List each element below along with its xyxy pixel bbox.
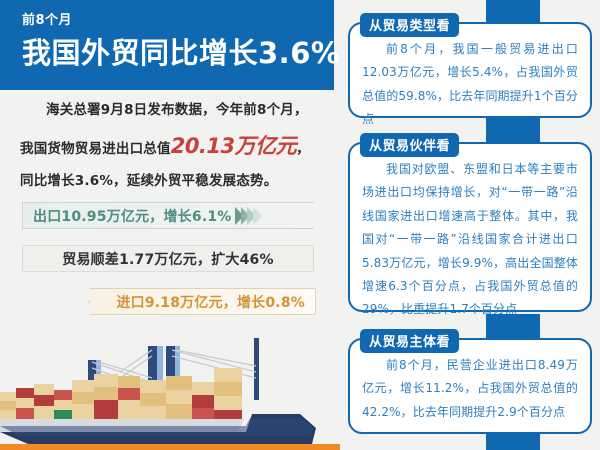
container-ship-illustration bbox=[0, 310, 340, 450]
right-column: 从贸易类型看 前8个月，我国一般贸易进出口12.03万亿元，增长5.4%，占我国… bbox=[340, 0, 600, 450]
lede-highlight-value: 20.13万亿元 bbox=[171, 134, 296, 158]
header-eyebrow: 前8个月 bbox=[22, 14, 334, 27]
card-body-trade-type: 前8个月，我国一般贸易进出口12.03万亿元，增长5.4%，占我国外贸总值的59… bbox=[350, 24, 590, 142]
stat-import-label: 进口9.18万亿元，增长0.8% bbox=[116, 292, 305, 312]
stat-bar-export: 出口10.95万亿元，增长6.1% bbox=[22, 202, 314, 229]
card-body-trade-entity: 前8个月，民营企业进出口8.49万亿元，增长11.2%，占我国外贸总值的42.2… bbox=[350, 340, 590, 434]
ship-svg bbox=[0, 310, 340, 450]
page-title: 我国外贸同比增长3.6% bbox=[22, 38, 334, 70]
card-trade-partner[interactable]: 从贸易伙伴看 我国对欧盟、东盟和日本等主要市场进出口均保持增长，对“一带一路”沿… bbox=[348, 142, 592, 312]
card-trade-entity[interactable]: 从贸易主体看 前8个月，民营企业进出口8.49万亿元，增长11.2%，占我国外贸… bbox=[348, 338, 592, 434]
stat-surplus-label: 贸易顺差1.77万亿元，扩大46% bbox=[62, 249, 273, 269]
stat-export-label: 出口10.95万亿元，增长6.1% bbox=[33, 206, 232, 226]
card-badge-trade-entity: 从贸易主体看 bbox=[360, 329, 459, 353]
container-stacks bbox=[0, 368, 242, 419]
card-badge-trade-type: 从贸易类型看 bbox=[360, 13, 459, 37]
header-banner: 前8个月 我国外贸同比增长3.6% bbox=[0, 0, 334, 90]
dock-band bbox=[0, 444, 340, 450]
card-badge-trade-partner: 从贸易伙伴看 bbox=[360, 133, 459, 157]
card-trade-type[interactable]: 从贸易类型看 前8个月，我国一般贸易进出口12.03万亿元，增长5.4%，占我国… bbox=[348, 22, 592, 118]
infographic-root: 前8个月 我国外贸同比增长3.6% 海关总署9月8日发布数据，今年前8个月，我国… bbox=[0, 0, 600, 450]
stat-bar-surplus: 贸易顺差1.77万亿元，扩大46% bbox=[22, 245, 314, 272]
arrow-right-icon bbox=[238, 207, 262, 225]
lede-paragraph: 海关总署9月8日发布数据，今年前8个月，我国货物贸易进出口总值20.13万亿元，… bbox=[20, 97, 316, 195]
left-column: 前8个月 我国外贸同比增长3.6% 海关总署9月8日发布数据，今年前8个月，我国… bbox=[0, 0, 334, 450]
card-body-trade-partner: 我国对欧盟、东盟和日本等主要市场进出口均保持增长，对“一带一路”沿线国家进出口增… bbox=[350, 144, 590, 332]
